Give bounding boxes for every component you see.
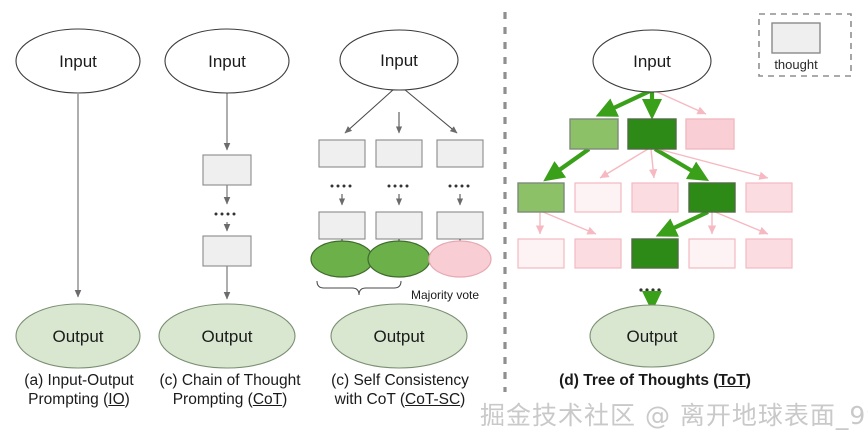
tot-edge-r1c2-r2c4: [655, 149, 704, 178]
cotsc-thought-box-r2c3: [437, 212, 483, 239]
caption-io-pre: Prompting (: [28, 391, 108, 408]
caption-tot-pre: (d) Tree of Thoughts (: [559, 372, 718, 389]
cot-output-label: Output: [201, 327, 252, 346]
cot-ellipsis: [215, 213, 236, 216]
caption-cot-line1: (c) Chain of Thought: [152, 371, 308, 390]
tot-node-r1c1: [570, 119, 618, 149]
caption-cot-line2: Prompting (CoT): [152, 390, 308, 409]
cotsc-thought-box-r1c3: [437, 140, 483, 167]
cotsc-thought-box-r2c2: [376, 212, 422, 239]
tot-edge-in-r3: [655, 91, 706, 114]
tot-node-r3c1: [518, 239, 564, 268]
panel-tot: Input Output thought: [518, 14, 851, 367]
tot-edge-r2c4-r3c3: [661, 212, 708, 234]
caption-tot: (d) Tree of Thoughts (ToT): [530, 371, 780, 390]
tot-node-r3c3: [632, 239, 678, 268]
legend-thought-swatch: [772, 23, 820, 53]
panel-io: Input Output: [16, 29, 140, 368]
figure-canvas: Input Output Input Output: [0, 0, 868, 439]
caption-cot-pre: Prompting (: [173, 391, 253, 408]
caption-cot-abbr: CoT: [253, 391, 282, 408]
tot-edge-r1c2-r2c3: [651, 149, 654, 178]
tot-node-r2c5: [746, 183, 792, 212]
cot-input-label: Input: [208, 52, 246, 71]
cotsc-ellipsis-c2: [388, 185, 409, 188]
panel-cot: Input Output: [159, 29, 295, 368]
tot-node-r1c2: [628, 119, 676, 149]
tot-node-r1c3: [686, 119, 734, 149]
caption-cotsc-pre: with CoT (: [335, 391, 405, 408]
caption-io: (a) Input-Output Prompting (IO): [0, 371, 158, 409]
caption-cotsc-abbr: CoT-SC: [405, 391, 460, 408]
caption-tot-line1: (d) Tree of Thoughts (ToT): [530, 371, 780, 390]
cot-thought-box-1: [203, 155, 251, 185]
cotsc-thought-box-r1c2: [376, 140, 422, 167]
cotsc-edge-in-right: [404, 89, 457, 133]
tot-edge-r1c2-r2c2: [600, 149, 648, 178]
caption-cot: (c) Chain of Thought Prompting (CoT): [152, 371, 308, 409]
cotsc-thought-box-r1c1: [319, 140, 365, 167]
legend-thought-label: thought: [774, 57, 818, 72]
cotsc-vote-ellipse-1: [311, 241, 373, 277]
tot-ellipsis: [639, 288, 660, 291]
tot-input-label: Input: [633, 52, 671, 71]
tot-node-r3c5: [746, 239, 792, 268]
caption-cotsc-line1: (c) Self Consistency: [320, 371, 480, 390]
tot-edge-r2c4-r3c5: [715, 212, 768, 234]
legend: thought: [759, 14, 851, 76]
caption-tot-post: ): [746, 372, 751, 389]
io-input-label: Input: [59, 52, 97, 71]
tot-node-r2c4: [689, 183, 735, 212]
tot-edge-in-r1: [601, 91, 650, 114]
tot-node-r3c2: [575, 239, 621, 268]
caption-cotsc-post: ): [460, 391, 465, 408]
panel-cot-sc: Input: [311, 30, 491, 368]
caption-io-line1: (a) Input-Output: [0, 371, 158, 390]
watermark: 掘金技术社区 @ 离开地球表面_99: [480, 396, 868, 432]
cotsc-ellipsis-c3: [449, 185, 470, 188]
caption-io-line2: Prompting (IO): [0, 390, 158, 409]
tot-edge-r1c1-r2c1: [548, 149, 589, 178]
tot-node-r3c4: [689, 239, 735, 268]
tot-node-r2c2: [575, 183, 621, 212]
tot-node-r2c3: [632, 183, 678, 212]
cotsc-edge-in-left: [345, 89, 394, 133]
caption-cot-post: ): [282, 391, 287, 408]
tot-edge-r1c2-r2c5: [658, 149, 768, 178]
cotsc-vote-ellipse-3: [429, 241, 491, 277]
caption-tot-abbr: ToT: [718, 372, 745, 389]
io-output-label: Output: [52, 327, 103, 346]
cotsc-vote-ellipse-2: [368, 241, 430, 277]
cotsc-thought-box-r2c1: [319, 212, 365, 239]
caption-io-post: ): [125, 391, 130, 408]
cotsc-majority-vote-label: Majority vote: [411, 288, 479, 302]
cotsc-majority-brace: [317, 281, 401, 295]
tot-output-label: Output: [626, 327, 677, 346]
tot-edge-r2c1-r3c2: [543, 212, 596, 234]
tot-node-r2c1: [518, 183, 564, 212]
cotsc-output-label: Output: [373, 327, 424, 346]
caption-io-abbr: IO: [108, 391, 124, 408]
caption-cot-sc: (c) Self Consistency with CoT (CoT-SC): [320, 371, 480, 409]
cotsc-input-label: Input: [380, 51, 418, 70]
caption-cotsc-line2: with CoT (CoT-SC): [320, 390, 480, 409]
cot-thought-box-2: [203, 236, 251, 266]
cotsc-ellipsis-c1: [331, 185, 352, 188]
